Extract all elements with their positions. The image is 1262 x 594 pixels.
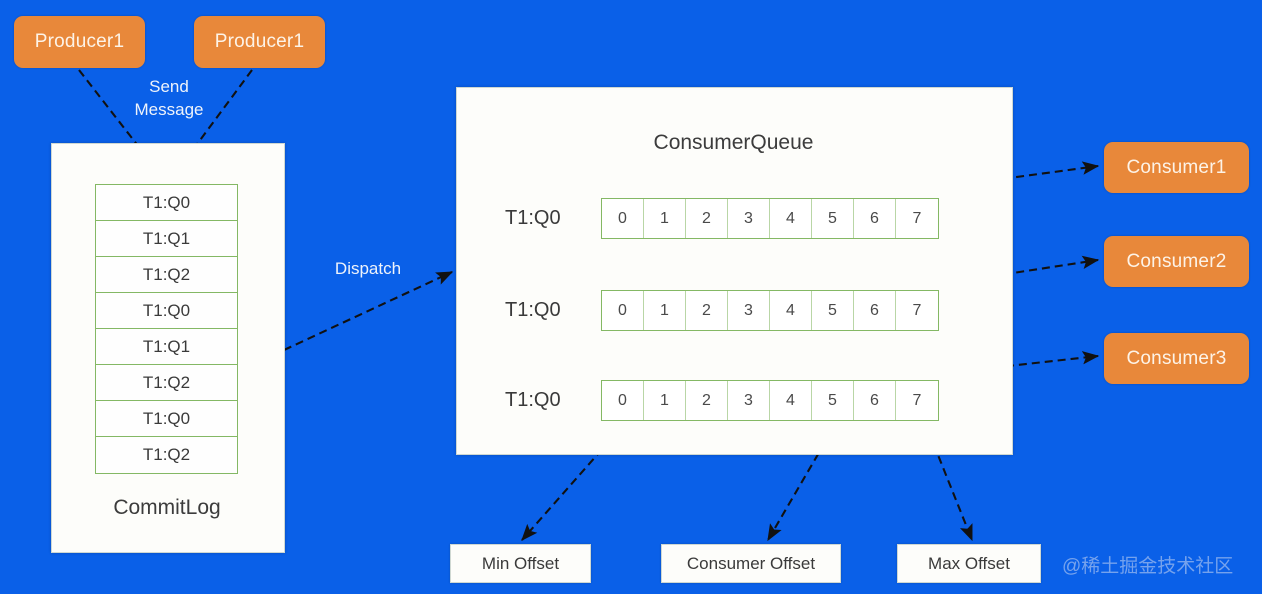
queue-cell[interactable]: 5	[812, 199, 854, 238]
queue-cell[interactable]: 0	[602, 381, 644, 420]
send-message-label: Send Message	[114, 76, 224, 122]
queue-row-2-cells: 0 1 2 3 4 5 6 7	[601, 290, 939, 331]
queue-row-1-cells: 0 1 2 3 4 5 6 7	[601, 198, 939, 239]
queue-row-3-label: T1:Q0	[505, 389, 601, 412]
max-offset-box[interactable]: Max Offset	[897, 544, 1041, 583]
queue-cell[interactable]: 0	[602, 291, 644, 330]
consumer-box-1-label: Consumer1	[1126, 157, 1226, 179]
queue-cell[interactable]: 4	[770, 381, 812, 420]
consumer-box-2[interactable]: Consumer2	[1104, 236, 1249, 287]
queue-cell[interactable]: 6	[854, 291, 896, 330]
commitlog-stack: T1:Q0 T1:Q1 T1:Q2 T1:Q0 T1:Q1 T1:Q2 T1:Q…	[95, 184, 238, 474]
consumer-offset-label: Consumer Offset	[687, 554, 815, 574]
queue-cell[interactable]: 7	[896, 291, 938, 330]
queue-cell[interactable]: 3	[728, 199, 770, 238]
queue-cell[interactable]: 7	[896, 199, 938, 238]
diagram-canvas: Producer1 Producer1 Send Message Dispatc…	[0, 0, 1262, 594]
commitlog-entry: T1:Q1	[96, 329, 237, 365]
queue-cell[interactable]: 5	[812, 381, 854, 420]
producer-box-2-label: Producer1	[215, 31, 304, 53]
queue-cell[interactable]: 2	[686, 291, 728, 330]
commitlog-entry: T1:Q2	[96, 437, 237, 473]
queue-cell[interactable]: 4	[770, 291, 812, 330]
consumer-box-1[interactable]: Consumer1	[1104, 142, 1249, 193]
queue-row-1-label: T1:Q0	[505, 207, 601, 230]
dispatch-label: Dispatch	[316, 258, 420, 281]
watermark-label: @稀土掘金技术社区	[1062, 551, 1233, 578]
commitlog-entry: T1:Q0	[96, 185, 237, 221]
queue-cell[interactable]: 3	[728, 291, 770, 330]
consumer-box-2-label: Consumer2	[1126, 251, 1226, 273]
queue-row-3-cells: 0 1 2 3 4 5 6 7	[601, 380, 939, 421]
commitlog-title: CommitLog	[51, 496, 283, 520]
producer-box-1-label: Producer1	[35, 31, 124, 53]
queue-cell[interactable]: 2	[686, 381, 728, 420]
producer-box-2[interactable]: Producer1	[194, 16, 325, 68]
commitlog-entry: T1:Q2	[96, 257, 237, 293]
consumer-box-3[interactable]: Consumer3	[1104, 333, 1249, 384]
queue-cell[interactable]: 1	[644, 291, 686, 330]
queue-row-2-label: T1:Q0	[505, 299, 601, 322]
commitlog-entry: T1:Q0	[96, 401, 237, 437]
queue-cell[interactable]: 4	[770, 199, 812, 238]
queue-cell[interactable]: 6	[854, 199, 896, 238]
max-offset-label: Max Offset	[928, 554, 1010, 574]
queue-cell[interactable]: 6	[854, 381, 896, 420]
queue-row-2: T1:Q0 0 1 2 3 4 5 6 7	[505, 290, 939, 331]
min-offset-box[interactable]: Min Offset	[450, 544, 591, 583]
commitlog-entry: T1:Q0	[96, 293, 237, 329]
queue-cell[interactable]: 0	[602, 199, 644, 238]
queue-cell[interactable]: 2	[686, 199, 728, 238]
commitlog-entry: T1:Q2	[96, 365, 237, 401]
producer-box-1[interactable]: Producer1	[14, 16, 145, 68]
queue-cell[interactable]: 1	[644, 381, 686, 420]
consumer-box-3-label: Consumer3	[1126, 348, 1226, 370]
queue-row-3: T1:Q0 0 1 2 3 4 5 6 7	[505, 380, 939, 421]
min-offset-label: Min Offset	[482, 554, 559, 574]
commitlog-entry: T1:Q1	[96, 221, 237, 257]
queue-cell[interactable]: 3	[728, 381, 770, 420]
queue-cell[interactable]: 1	[644, 199, 686, 238]
queue-cell[interactable]: 5	[812, 291, 854, 330]
queue-cell[interactable]: 7	[896, 381, 938, 420]
consumerqueue-title: ConsumerQueue	[456, 131, 1011, 155]
arrow-dispatch-to-consumerqueue	[284, 272, 452, 350]
consumer-offset-box[interactable]: Consumer Offset	[661, 544, 841, 583]
queue-row-1: T1:Q0 0 1 2 3 4 5 6 7	[505, 198, 939, 239]
